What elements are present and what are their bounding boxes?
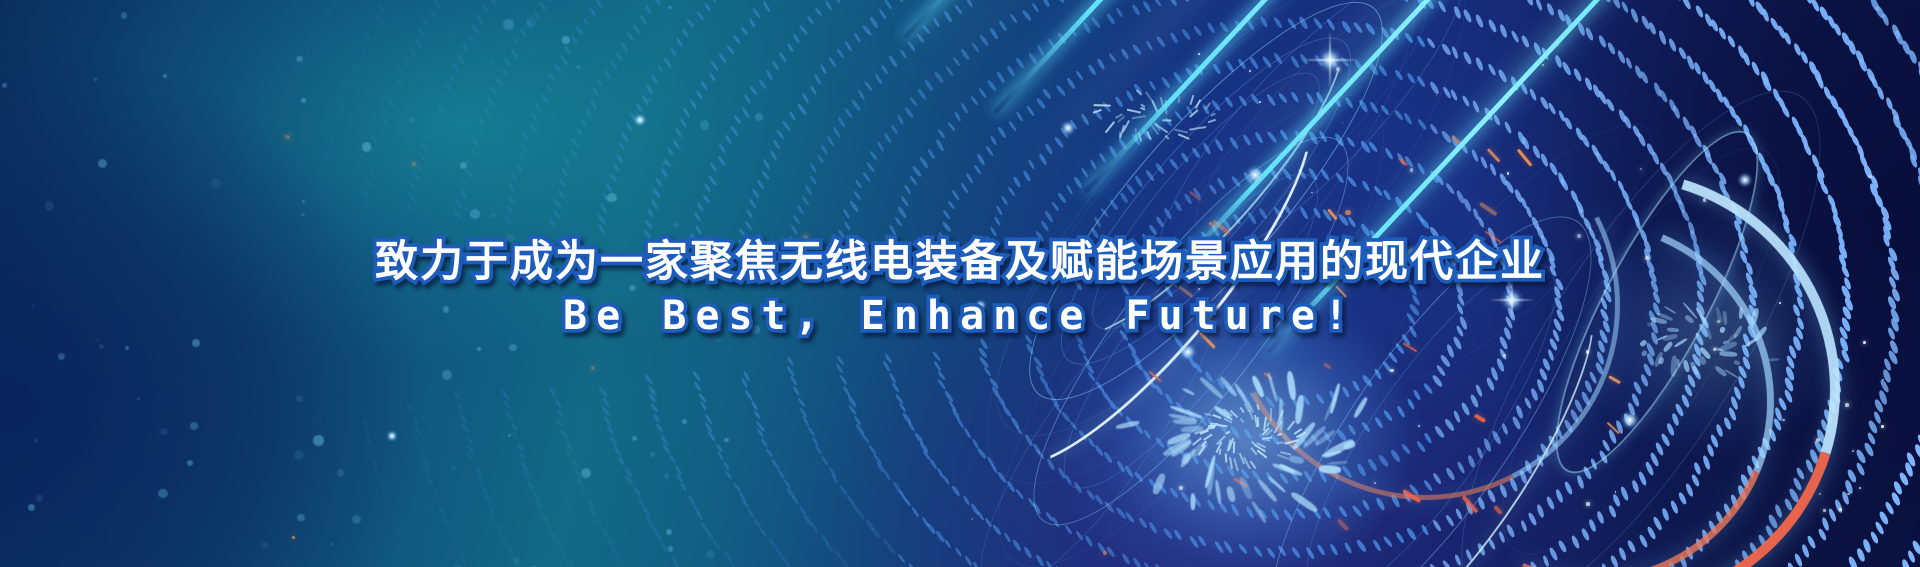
spark-dot xyxy=(1779,302,1781,304)
spark-dot xyxy=(1717,320,1720,323)
star-glint xyxy=(386,430,398,442)
spark-dot xyxy=(1881,425,1884,428)
spark-dot xyxy=(1839,508,1842,511)
spark-dot xyxy=(1713,348,1717,352)
spark-dot xyxy=(1577,234,1581,238)
spark-dot xyxy=(1869,175,1872,178)
spark-dot xyxy=(1859,487,1861,489)
star-glint xyxy=(1179,343,1197,361)
spark-dot xyxy=(1640,168,1642,170)
spark-dot xyxy=(1390,369,1393,372)
spark-dot xyxy=(1259,101,1261,103)
spark-dot xyxy=(1615,491,1617,493)
spark-dot xyxy=(1263,262,1266,265)
spark-dot xyxy=(1410,168,1414,172)
spark-dot xyxy=(1198,288,1200,290)
spark-dot xyxy=(1311,192,1313,194)
spark-dot xyxy=(1852,450,1854,452)
spark-dot xyxy=(1123,246,1125,248)
spark-dot xyxy=(1703,198,1707,202)
spark-dot xyxy=(1645,256,1649,260)
spark-dot xyxy=(1371,249,1373,251)
spark-dot xyxy=(1283,249,1287,253)
hero-banner: 致力于成为一家聚焦无线电装备及赋能场景应用的现代企业 Be Best, Enha… xyxy=(0,0,1920,567)
spark-dot xyxy=(1233,245,1236,248)
spark-dot xyxy=(1241,271,1244,274)
spark-dot xyxy=(1586,502,1589,505)
spark-dot xyxy=(1816,438,1820,442)
star-glint-group xyxy=(0,0,1920,567)
star-glint xyxy=(633,113,647,127)
star-flare-v xyxy=(1511,277,1513,323)
spark-dot xyxy=(1179,486,1182,489)
star-glint xyxy=(1245,165,1265,185)
spark-dot xyxy=(1436,95,1438,97)
star-glint xyxy=(974,299,987,312)
spark-dot xyxy=(1863,341,1866,344)
spark-dot xyxy=(1819,493,1822,496)
spark-dot xyxy=(1782,419,1785,422)
spark-dot xyxy=(1542,64,1545,67)
spark-dot xyxy=(1882,379,1884,381)
star-glint xyxy=(1060,120,1076,136)
star-flare-v xyxy=(1329,30,1331,90)
spark-dot xyxy=(1507,172,1510,175)
star-glint xyxy=(1620,410,1640,430)
spark-dot xyxy=(1823,509,1826,512)
spark-dot xyxy=(1845,403,1849,407)
spark-dot xyxy=(1586,350,1590,354)
spark-dot xyxy=(1198,53,1200,55)
spark-dot xyxy=(1503,354,1506,357)
spark-dot xyxy=(1847,493,1849,495)
star-glint xyxy=(1737,172,1753,188)
spark-dot xyxy=(1336,67,1340,71)
spark-dot xyxy=(1249,70,1251,72)
spark-dot xyxy=(1418,425,1420,427)
star-glint xyxy=(1399,244,1421,266)
spark-dot xyxy=(1374,482,1376,484)
spark-dot xyxy=(1342,122,1344,124)
